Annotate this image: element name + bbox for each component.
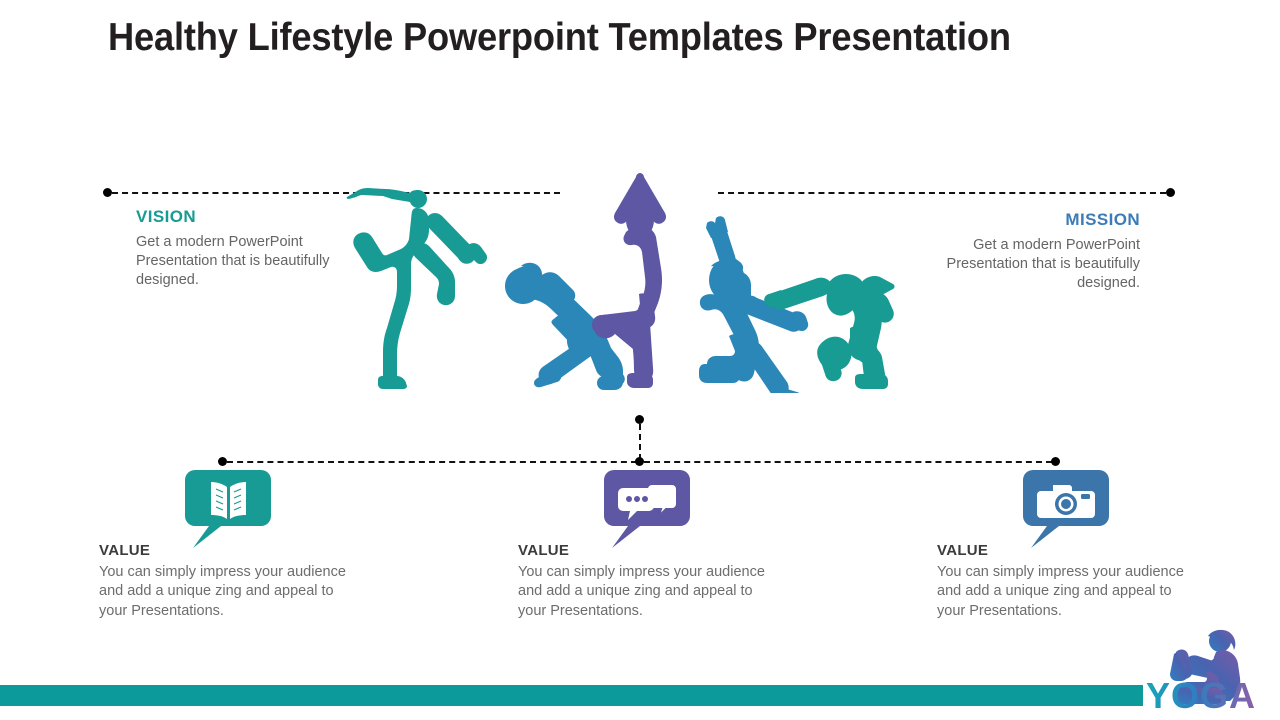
figure-standing-split-pose (764, 272, 894, 389)
connector-dot-value-3 (1051, 457, 1060, 466)
mission-block: MISSION Get a modern PowerPoint Presenta… (940, 210, 1140, 293)
open-book-icon (185, 470, 271, 548)
vision-heading: VISION (136, 207, 351, 227)
connector-dot-value-1 (218, 457, 227, 466)
connector-dot-value-2 (635, 457, 644, 466)
logo-wordmark: YOGA (1146, 675, 1256, 714)
slide-canvas: Healthy Lifestyle Powerpoint Templates P… (0, 0, 1280, 720)
connector-line-value-right (644, 461, 1052, 463)
chat-bubbles-icon (604, 470, 690, 548)
yoga-logo: YOGA (1146, 628, 1278, 714)
vision-body: Get a modern PowerPoint Presentation tha… (136, 233, 351, 290)
value-body-1: You can simply impress your audience and… (99, 563, 354, 621)
connector-line-center-vertical (639, 424, 641, 460)
connector-line-value-left (227, 461, 637, 463)
page-title: Healthy Lifestyle Powerpoint Templates P… (108, 16, 1112, 60)
yoga-poses-illustration (345, 168, 895, 393)
connector-dot-center-top (635, 415, 644, 424)
connector-dot-mission (1166, 188, 1175, 197)
value-heading-1: VALUE (99, 542, 150, 559)
camera-icon (1023, 470, 1109, 548)
footer-accent-bar (0, 685, 1143, 706)
mission-body: Get a modern PowerPoint Presentation tha… (940, 236, 1140, 293)
value-body-2: You can simply impress your audience and… (518, 563, 773, 621)
value-heading-2: VALUE (518, 542, 569, 559)
figure-standing-bow-dancer-pose (347, 188, 487, 389)
value-heading-3: VALUE (937, 542, 988, 559)
mission-heading: MISSION (940, 210, 1140, 230)
value-body-3: You can simply impress your audience and… (937, 563, 1192, 621)
vision-block: VISION Get a modern PowerPoint Presentat… (136, 207, 351, 290)
connector-dot-vision (103, 188, 112, 197)
